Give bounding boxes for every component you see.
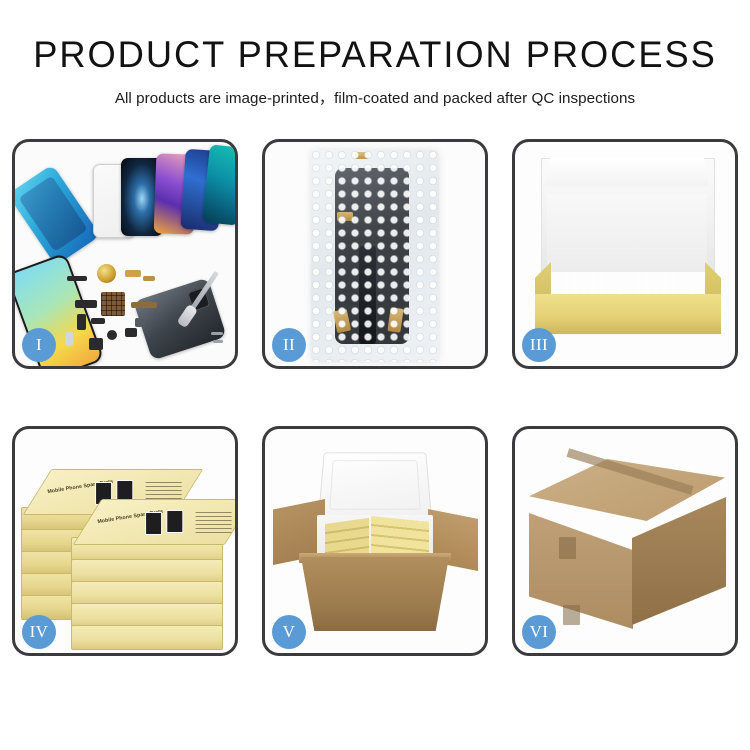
carton-front-panel [301,557,449,631]
chip-array-part [101,292,125,316]
carton-tape-upper [559,537,576,559]
stacked-box [71,625,223,650]
screw-part [213,340,223,343]
step-badge-3: III [522,328,556,362]
step-badge-6: VI [522,615,556,649]
gold-flex-part [125,270,141,277]
bubble-wrap-bag [311,150,439,362]
process-step-panel-4: Mobile Phone Spare Parts Mobile Phone Sp… [12,426,238,656]
carton-tape-lower [563,605,580,625]
page-subtitle: All products are image-printed，film-coat… [0,86,750,108]
process-step-panel-2: II [262,139,488,369]
gold-coil-part [97,264,116,283]
process-step-panel-3: III [512,139,738,369]
metal-shield-part [135,318,145,327]
header: PRODUCT PREPARATION PROCESS All products… [0,0,750,108]
camera-module-part [125,328,137,337]
connector-part [67,276,87,281]
flex-cable-part [75,300,97,308]
speaker-part [107,330,117,340]
foam-lid [318,452,432,519]
ribbon-cable-part [131,302,157,308]
box-text-lines [196,509,232,533]
bubble-texture [311,150,439,362]
step-badge-2: II [272,328,306,362]
screw-part [211,332,223,335]
foam-sheet [547,194,707,272]
carton-left-face [529,513,633,629]
box-screen-print [166,510,183,533]
box-screen-print [145,512,162,535]
sim-tray-part [65,332,73,346]
stacked-box-top-face: Mobile Phone Spare Parts [73,499,235,545]
process-step-panel-5: V [262,426,488,656]
process-step-panel-6: VI [512,426,738,656]
step-badge-4: IV [22,615,56,649]
box-front-panel [535,294,721,334]
bracket-part [77,314,86,330]
gold-clip-part [143,276,155,281]
process-step-panel-1: I [12,139,238,369]
small-board-part [91,318,105,324]
step-badge-1: I [22,328,56,362]
box-lid-top-edge [545,158,709,186]
page-title: PRODUCT PREPARATION PROCESS [8,36,743,73]
vibrator-part [89,338,103,350]
process-step-grid: I II III [12,139,738,656]
adhesive-sheet-graphic [15,164,100,265]
step-badge-5: V [272,615,306,649]
